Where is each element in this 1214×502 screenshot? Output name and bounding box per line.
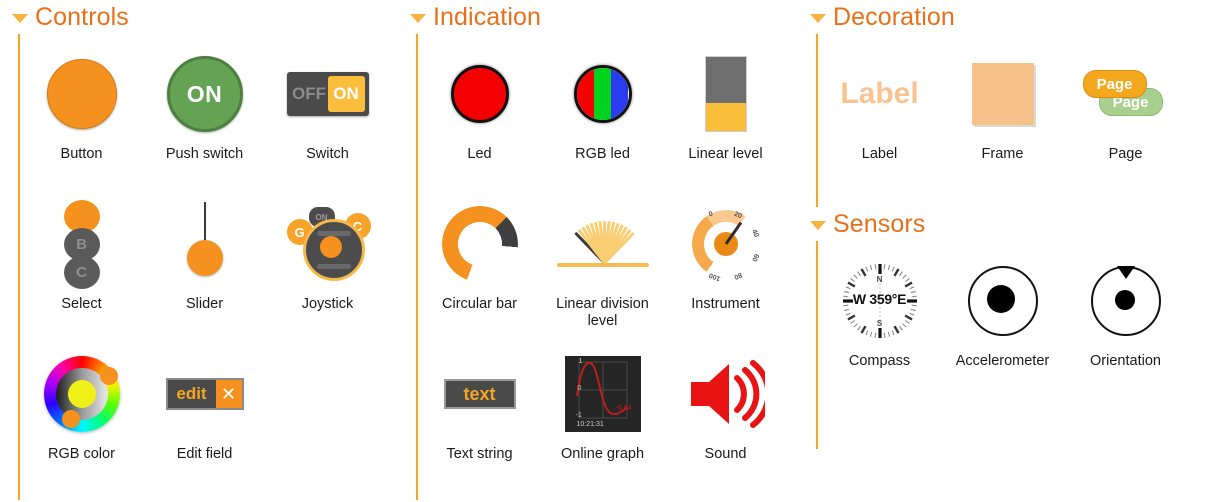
graph-y-mid: 0 — [578, 385, 582, 392]
triangle-down-icon[interactable] — [810, 14, 826, 23]
palette-item-online-graph[interactable]: 1 0 -1 -0.84 10:21:31 Online graph — [541, 342, 664, 492]
indication-row-1: Led RGB led Linear level — [418, 42, 798, 192]
group-body-decoration: Label Label Frame Page Page Page — [816, 34, 1214, 207]
frame-icon[interactable] — [941, 48, 1064, 140]
circular-bar-icon[interactable] — [418, 198, 541, 290]
palette-item-instrument[interactable]: 020406080100 Instrument — [664, 192, 787, 342]
palette-item-label[interactable]: Label Label — [818, 42, 941, 192]
palette-item-circular-bar[interactable]: Circular bar — [418, 192, 541, 342]
group-body-indication: Led RGB led Linear level — [416, 34, 798, 500]
joystick-icon[interactable]: ON G C — [266, 198, 389, 290]
rgb-led-icon[interactable] — [541, 48, 664, 140]
item-label: Switch — [269, 146, 387, 163]
controls-column: Controls Button ON Push switch OFF — [0, 0, 398, 502]
item-label: Linear division level — [544, 296, 662, 330]
triangle-down-icon[interactable] — [810, 221, 826, 230]
palette-item-orientation[interactable]: Orientation — [1064, 249, 1187, 399]
palette-item-linear-division-level[interactable]: Linear division level — [541, 192, 664, 342]
item-label: Led — [421, 146, 539, 163]
text-string-value: text — [444, 379, 516, 409]
compass-north: N — [842, 275, 918, 284]
palette-item-led[interactable]: Led — [418, 42, 541, 192]
controls-row-3: RGB color edit ✕ Edit field — [20, 342, 398, 492]
sound-icon[interactable] — [664, 348, 787, 440]
orientation-icon[interactable] — [1064, 255, 1187, 347]
accelerometer-icon[interactable] — [941, 255, 1064, 347]
item-label: Circular bar — [421, 296, 539, 313]
item-label: Compass — [821, 353, 939, 370]
graph-time: 10:21:31 — [577, 421, 604, 428]
palette-item-frame[interactable]: Frame — [941, 42, 1064, 192]
palette-item-rgb-led[interactable]: RGB led — [541, 42, 664, 192]
palette-item-joystick[interactable]: ON G C Joystick — [266, 192, 389, 342]
palette-item-push-switch[interactable]: ON Push switch — [143, 42, 266, 192]
item-label: Text string — [421, 446, 539, 463]
item-label: Edit field — [146, 446, 264, 463]
text-string-icon[interactable]: text — [418, 348, 541, 440]
palette-item-page[interactable]: Page Page Page — [1064, 42, 1187, 192]
palette-item-slider[interactable]: Slider — [143, 192, 266, 342]
group-body-controls: Button ON Push switch OFF ON Switc — [18, 34, 398, 500]
sensors-row-1: N S W 359°E Compass Accelerometer — [818, 249, 1214, 399]
switch-icon[interactable]: OFF ON — [266, 48, 389, 140]
decoration-row-1: Label Label Frame Page Page Page — [818, 42, 1214, 192]
palette-item-linear-level[interactable]: Linear level — [664, 42, 787, 192]
group-body-sensors: N S W 359°E Compass Accelerometer — [816, 241, 1214, 449]
select-icon[interactable]: B C — [20, 198, 143, 290]
palette-item-empty — [266, 342, 389, 492]
palette-item-rgb-color[interactable]: RGB color — [20, 342, 143, 492]
select-option-c: C — [64, 256, 100, 289]
item-label: Sound — [667, 446, 785, 463]
group-header-controls[interactable]: Controls — [0, 0, 398, 34]
label-sample-text: Label — [840, 77, 918, 111]
item-label: Select — [23, 296, 141, 313]
compass-heading: W 359°E — [842, 291, 918, 307]
item-label: Button — [23, 146, 141, 163]
group-title-controls: Controls — [35, 5, 129, 30]
indication-row-2: Circular bar Linear division level 02040… — [418, 192, 798, 342]
palette-item-button[interactable]: Button — [20, 42, 143, 192]
palette-item-compass[interactable]: N S W 359°E Compass — [818, 249, 941, 399]
indication-column: Indication Led RGB led Lin — [398, 0, 798, 502]
edit-field-icon[interactable]: edit ✕ — [143, 348, 266, 440]
triangle-down-icon[interactable] — [410, 14, 426, 23]
compass-icon[interactable]: N S W 359°E — [818, 255, 941, 347]
graph-y-bottom: -1 — [576, 412, 582, 419]
graph-value: -0.84 — [616, 405, 632, 412]
instrument-gauge-icon[interactable]: 020406080100 — [664, 198, 787, 290]
group-title-indication: Indication — [433, 5, 541, 30]
item-label: Joystick — [269, 296, 387, 313]
item-label: Page — [1067, 146, 1185, 163]
controls-row-1: Button ON Push switch OFF ON Switc — [20, 42, 398, 192]
group-header-indication[interactable]: Indication — [398, 0, 798, 34]
widget-palette: Controls Button ON Push switch OFF — [0, 0, 1214, 502]
palette-item-switch[interactable]: OFF ON Switch — [266, 42, 389, 192]
group-title-decoration: Decoration — [833, 5, 955, 30]
item-label: Linear level — [667, 146, 785, 163]
item-label: RGB led — [544, 146, 662, 163]
palette-item-sound[interactable]: Sound — [664, 342, 787, 492]
item-label: Label — [821, 146, 939, 163]
label-icon[interactable]: Label — [818, 48, 941, 140]
rgb-color-wheel-icon[interactable] — [20, 348, 143, 440]
item-label: Orientation — [1067, 353, 1185, 370]
palette-item-edit-field[interactable]: edit ✕ Edit field — [143, 342, 266, 492]
compass-south: S — [842, 319, 918, 328]
item-label: Instrument — [667, 296, 785, 313]
switch-off-label: OFF — [291, 76, 328, 112]
linear-division-level-icon[interactable] — [541, 198, 664, 290]
palette-item-text-string[interactable]: text Text string — [418, 342, 541, 492]
palette-item-select[interactable]: B C Select — [20, 192, 143, 342]
switch-on-label: ON — [328, 76, 365, 112]
group-header-decoration[interactable]: Decoration — [798, 0, 1214, 34]
group-header-sensors[interactable]: Sensors — [798, 207, 1214, 241]
online-graph-icon[interactable]: 1 0 -1 -0.84 10:21:31 — [541, 348, 664, 440]
item-label: RGB color — [23, 446, 141, 463]
page-icon[interactable]: Page Page — [1064, 48, 1187, 140]
button-icon[interactable] — [20, 48, 143, 140]
slider-icon[interactable] — [143, 198, 266, 290]
item-label: Online graph — [544, 446, 662, 463]
linear-level-icon[interactable] — [664, 48, 787, 140]
led-icon[interactable] — [418, 48, 541, 140]
triangle-down-icon[interactable] — [12, 14, 28, 23]
edit-field-text: edit — [168, 380, 216, 408]
item-label: Slider — [146, 296, 264, 313]
close-icon[interactable]: ✕ — [216, 380, 242, 408]
item-label: Accelerometer — [944, 353, 1062, 370]
item-label: Frame — [944, 146, 1062, 163]
push-switch-state: ON — [187, 81, 223, 108]
controls-row-2: B C Select Slider ON — [20, 192, 398, 342]
graph-y-top: 1 — [579, 358, 583, 365]
push-switch-icon[interactable]: ON — [143, 48, 266, 140]
right-column: Decoration Label Label Frame Page — [798, 0, 1214, 502]
item-label: Push switch — [146, 146, 264, 163]
indication-row-3: text Text string 1 — [418, 342, 798, 492]
page-front-label: Page — [1083, 70, 1147, 98]
group-title-sensors: Sensors — [833, 212, 925, 237]
palette-item-accelerometer[interactable]: Accelerometer — [941, 249, 1064, 399]
